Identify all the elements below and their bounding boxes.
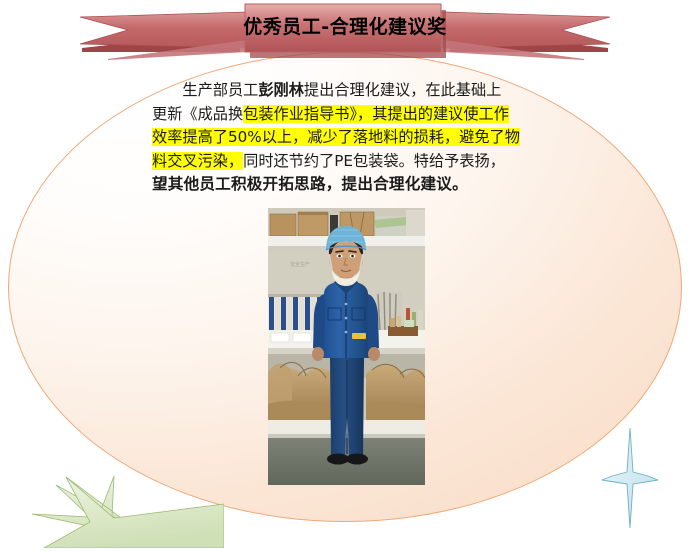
line4-highlight: 料交叉污染， — [152, 152, 243, 170]
decorative-green-star — [0, 470, 224, 548]
employee-photo: 安全生产 — [268, 208, 425, 485]
text-line-3: 效率提高了50%以上，减少了落地料的损耗，避免了物 — [152, 126, 544, 150]
line1-seg-c: 提出合理化建议，在此基础上 — [304, 81, 501, 99]
employee-name: 彭刚林 — [258, 81, 304, 99]
line3-highlight: 效率提高了50%以上，减少了落地料的损耗，避免了物 — [152, 128, 520, 146]
text-line-2: 更新《成品换包装作业指导书》，其提出的建议使工作 — [152, 103, 544, 127]
award-description-text: 生产部员工彭刚林提出合理化建议，在此基础上 更新《成品换包装作业指导书》，其提出… — [152, 79, 544, 197]
decorative-cyan-sparkle — [600, 428, 662, 528]
text-line-1: 生产部员工彭刚林提出合理化建议，在此基础上 — [152, 79, 544, 103]
line1-indent — [152, 81, 182, 99]
text-line-5: 望其他员工积极开拓思路，提出合理化建议。 — [152, 173, 544, 197]
line1-seg-a: 生产部员工 — [182, 81, 258, 99]
line4-seg-b: 同时还节约了PE包装袋。特给予表扬， — [243, 152, 505, 170]
svg-text:安全生产: 安全生产 — [290, 261, 310, 268]
line2-highlight: 包装作业指导书》，其提出的建议使工作 — [243, 105, 509, 123]
ribbon-banner: 优秀员工-合理化建议奖 — [0, 0, 690, 62]
line2-seg-a: 更新《成品换 — [152, 105, 243, 123]
text-line-4: 料交叉污染，同时还节约了PE包装袋。特给予表扬， — [152, 150, 544, 174]
